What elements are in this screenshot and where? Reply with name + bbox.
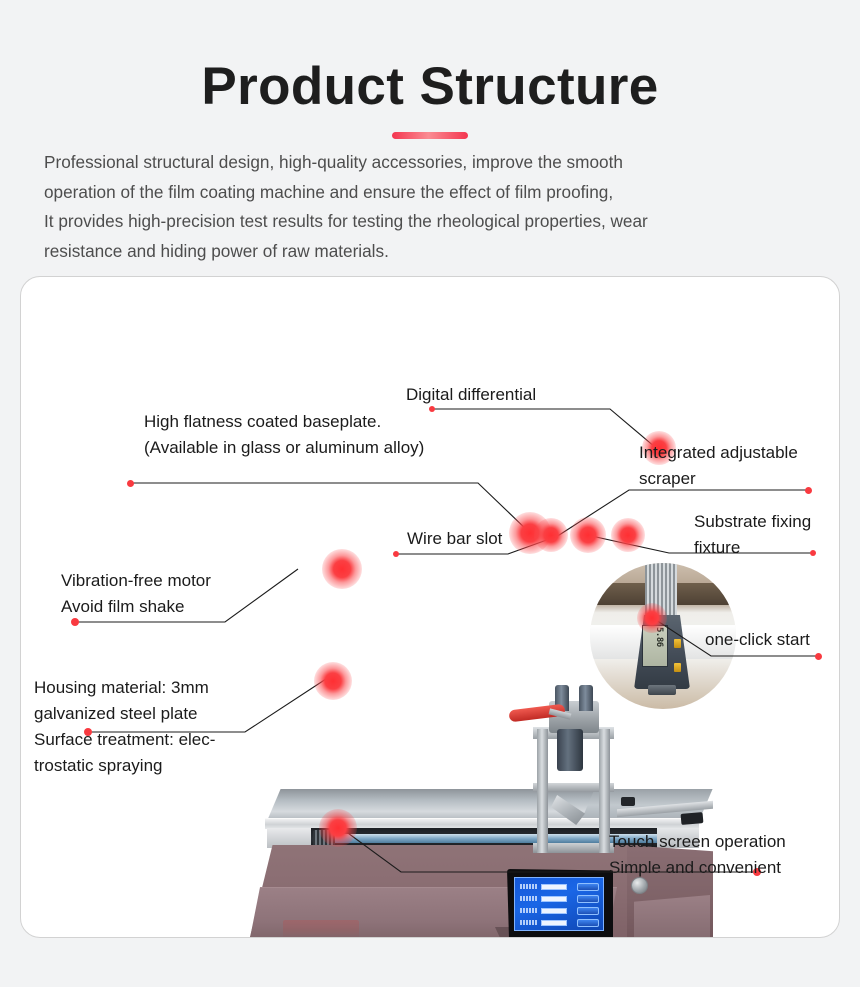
callout-line: Digital differential [406, 382, 536, 408]
marker-substrate-fixing-fixture [611, 518, 645, 552]
scraper-cylinder-right [579, 685, 593, 711]
callout-line: Avoid film shake [61, 594, 211, 620]
title-accent-bar [392, 132, 468, 139]
mini-label [520, 920, 538, 925]
mini-button [577, 919, 599, 927]
marker-wire-bar-slot [534, 518, 568, 552]
callout-line: Integrated adjustable [639, 440, 798, 466]
enddot-high-flatness-baseplate [127, 480, 134, 487]
marker-integrated-scraper [570, 517, 606, 553]
callout-high-flatness-baseplate: High flatness coated baseplate. (Availab… [144, 409, 424, 461]
enddot-one-click-start [815, 653, 822, 660]
intro-paragraph: Professional structural design, high-qua… [44, 148, 830, 266]
mini-input [541, 920, 567, 926]
leader-high-flatness-baseplate [130, 483, 529, 532]
substrate-clip-right[interactable] [681, 812, 704, 825]
indicator-button-upper[interactable] [674, 639, 681, 648]
mini-label [520, 908, 538, 913]
indicator-base [648, 685, 676, 695]
mini-button [577, 907, 599, 915]
callout-line: High flatness coated baseplate. [144, 409, 424, 435]
header: Product Structure Professional structura… [0, 0, 860, 268]
callout-line: one-click start [705, 627, 810, 653]
callout-wire-bar-slot: Wire bar slot [407, 526, 502, 552]
leader-digital-differential [432, 409, 662, 453]
control-panel-screen[interactable] [514, 877, 604, 931]
callout-line: scraper [639, 466, 798, 492]
callout-line: Wire bar slot [407, 526, 502, 552]
marker-housing-material [314, 662, 352, 700]
mini-input [541, 884, 567, 890]
callout-line: trostatic spraying [34, 753, 215, 779]
intro-line-4: resistance and hiding power of raw mater… [44, 237, 830, 267]
callout-line: Substrate fixing [694, 509, 811, 535]
enddot-wire-bar-slot [393, 551, 399, 557]
scraper-frame-leg-left [537, 729, 548, 853]
marker-one-click-start [637, 603, 667, 633]
indicator-button-lower[interactable] [674, 663, 681, 672]
mini-button [577, 895, 599, 903]
callout-line: fixture [694, 535, 811, 561]
page-title: Product Structure [0, 60, 860, 113]
callout-line: Vibration-free motor [61, 568, 211, 594]
callout-line: (Available in glass or aluminum alloy) [144, 435, 424, 461]
callout-touch-screen-operation: Touch screen operation Simple and conven… [609, 829, 786, 881]
callout-line: galvanized steel plate [34, 701, 215, 727]
callout-integrated-adjustable-scraper: Integrated adjustable scraper [639, 440, 798, 492]
callout-line: Surface treatment: elec- [34, 727, 215, 753]
callout-line: Housing material: 3mm [34, 675, 215, 701]
callout-substrate-fixing-fixture: Substrate fixing fixture [694, 509, 811, 561]
intro-line-3: It provides high-precision test results … [44, 207, 830, 237]
callout-vibration-free-motor: Vibration-free motor Avoid film shake [61, 568, 211, 620]
callout-line: Simple and convenient [609, 855, 786, 881]
callout-housing-material: Housing material: 3mm galvanized steel p… [34, 675, 215, 779]
product-structure-infographic: Product Structure Professional structura… [0, 0, 860, 987]
marker-vibration-free-motor [322, 549, 362, 589]
mini-label [520, 896, 538, 901]
mini-label [520, 884, 538, 889]
brand-watermark [283, 920, 359, 938]
callout-line: Touch screen operation [609, 829, 786, 855]
intro-line-2: operation of the film coating machine an… [44, 178, 830, 208]
mini-input [541, 896, 567, 902]
intro-line-1: Professional structural design, high-qua… [44, 148, 830, 178]
housing-right-step [634, 895, 710, 938]
substrate-clip-left[interactable] [621, 797, 635, 806]
callout-digital-differential: Digital differential [406, 382, 536, 408]
callout-one-click-start: one-click start [705, 627, 810, 653]
diagram-card: 5.86 设置温度： ℃ 设置速度： MM/S 设置距离： [20, 276, 840, 938]
enddot-integrated-scraper [805, 487, 812, 494]
mini-button [577, 883, 599, 891]
mini-input [541, 908, 567, 914]
marker-touch-screen [319, 809, 357, 847]
scraper-motor [557, 729, 583, 771]
